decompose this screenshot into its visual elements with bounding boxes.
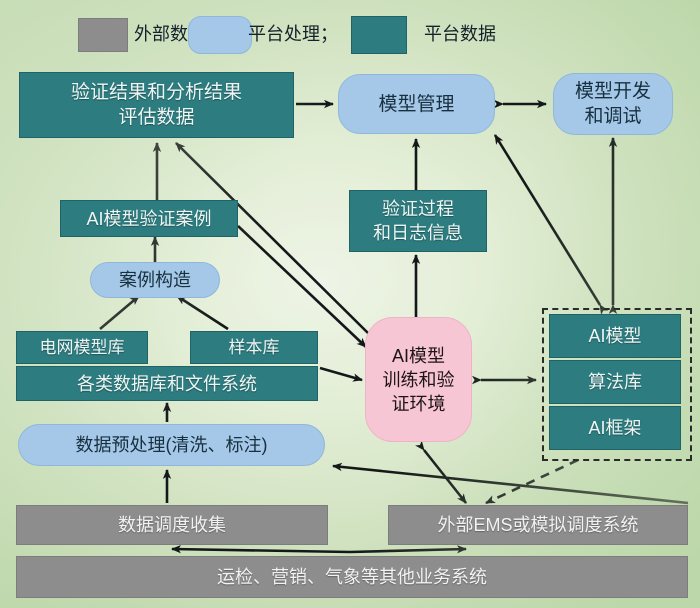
node-ai-model-validation-case-label: AI模型验证案例 [86, 207, 211, 231]
node-external-ems-label: 外部EMS或模拟调度系统 [437, 513, 638, 537]
node-validation-results-line1: 验证结果和分析结果 [71, 80, 242, 105]
edge-case-to-train-env [238, 226, 366, 347]
edge-other-to-collection [172, 549, 350, 552]
node-validation-results-line2: 评估数据 [118, 105, 194, 130]
edge-other-to-ems [350, 549, 466, 552]
node-case-construction[interactable]: 案例构造 [90, 262, 220, 298]
legend-swatch-platform-processing [188, 16, 252, 54]
node-model-dev-debug[interactable]: 模型开发 和调试 [553, 73, 673, 135]
node-data-collection-label: 数据调度收集 [118, 513, 226, 537]
node-model-dev-debug-line2: 和调试 [584, 104, 641, 129]
edge-gridlib-to-construction [100, 296, 139, 329]
node-validation-results[interactable]: 验证结果和分析结果 评估数据 [19, 72, 294, 138]
node-sample-library-label: 样本库 [229, 337, 280, 359]
node-model-management-label: 模型管理 [378, 92, 454, 117]
node-sample-library[interactable]: 样本库 [190, 331, 318, 364]
legend-swatch-platform-data [351, 16, 407, 54]
node-model-dev-debug-line1: 模型开发 [575, 79, 651, 104]
node-algorithm-library-label: 算法库 [588, 370, 642, 394]
node-case-construction-label: 案例构造 [119, 268, 191, 292]
node-validation-log-line1: 验证过程 [382, 197, 454, 221]
edge-samplelib-to-construction [177, 296, 228, 329]
node-db-and-filesystem-label: 各类数据库和文件系统 [77, 372, 257, 396]
legend-label-platform-data: 平台数据 [424, 22, 496, 46]
node-ai-training-env[interactable]: AI模型 训练和验 证环境 [365, 317, 472, 442]
edge-db-to-train-env [320, 368, 362, 380]
node-ai-framework-label: AI框架 [588, 416, 641, 440]
edge-train-env-to-results [176, 143, 372, 337]
legend-label-platform-processing: 平台处理； [248, 22, 338, 46]
node-ai-model-label: AI模型 [588, 324, 641, 348]
edge-ai-group-to-ems-dashed [486, 460, 578, 503]
node-ai-framework[interactable]: AI框架 [549, 406, 681, 450]
node-grid-model-library[interactable]: 电网模型库 [16, 331, 148, 364]
node-algorithm-library[interactable]: 算法库 [549, 360, 681, 404]
node-model-management[interactable]: 模型管理 [338, 74, 495, 134]
node-ai-model[interactable]: AI模型 [549, 314, 681, 358]
node-ai-training-env-line3: 证环境 [392, 392, 446, 416]
edge-ems-to-preprocess [333, 466, 688, 503]
diagram-canvas: 外部数据； 平台处理； 平台数据 [0, 0, 700, 608]
node-ai-training-env-line1: AI模型 [392, 344, 445, 368]
node-validation-log-line2: 和日志信息 [373, 221, 463, 245]
node-data-preprocessing[interactable]: 数据预处理(清洗、标注) [18, 424, 325, 466]
node-data-preprocessing-label: 数据预处理(清洗、标注) [76, 433, 268, 457]
node-ai-model-validation-case[interactable]: AI模型验证案例 [60, 200, 238, 237]
edge-ai-model-to-model-mgmt [495, 135, 600, 305]
node-other-business-systems-label: 运检、营销、气象等其他业务系统 [217, 565, 487, 589]
node-external-ems[interactable]: 外部EMS或模拟调度系统 [388, 505, 688, 545]
legend-swatch-external-data [78, 18, 128, 52]
node-other-business-systems[interactable]: 运检、营销、气象等其他业务系统 [16, 556, 688, 598]
node-ai-training-env-line2: 训练和验 [383, 368, 455, 392]
node-db-and-filesystem[interactable]: 各类数据库和文件系统 [16, 366, 318, 401]
node-data-collection[interactable]: 数据调度收集 [16, 505, 328, 545]
node-validation-log[interactable]: 验证过程 和日志信息 [349, 190, 487, 252]
node-grid-model-library-label: 电网模型库 [40, 337, 125, 359]
